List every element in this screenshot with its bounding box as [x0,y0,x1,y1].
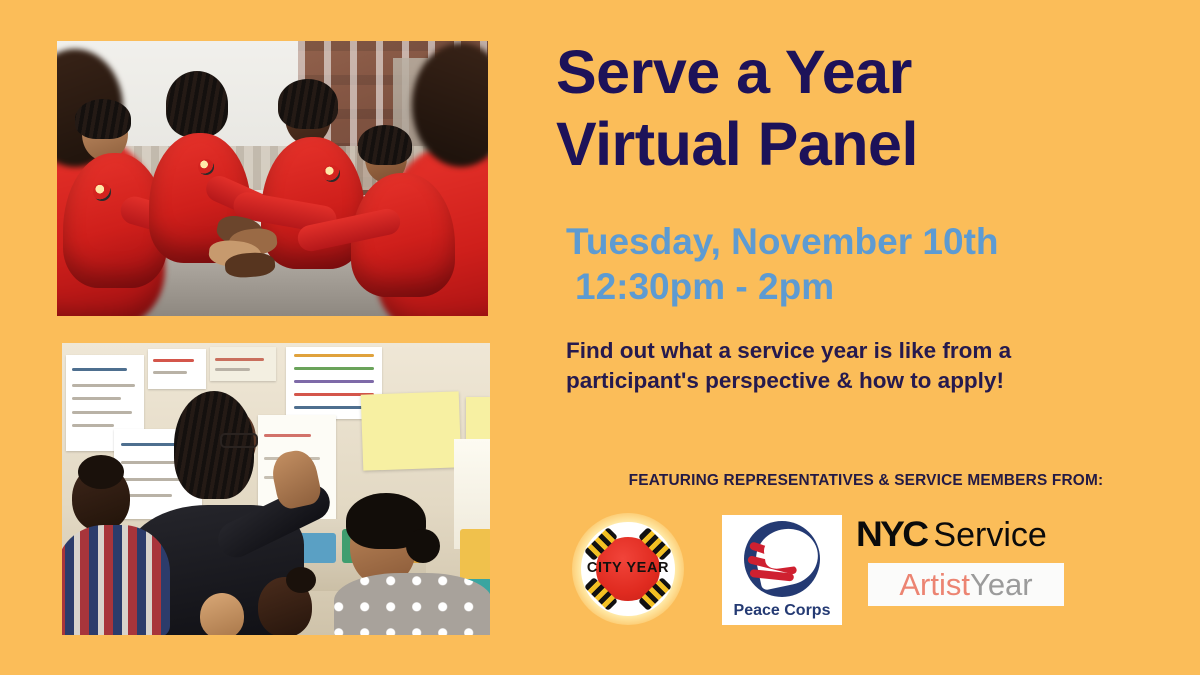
featuring-label: FEATURING REPRESENTATIVES & SERVICE MEMB… [566,472,1166,490]
title-line-1: Serve a Year [556,36,1176,108]
photo-person-2-locs [166,71,228,137]
peace-corps-logo: Peace Corps [722,515,842,625]
event-time: 12:30pm - 2pm [566,264,1186,309]
photo-person-3-hair [278,79,338,129]
photo-person-4-hair [358,125,412,165]
artistyear-logo: Artist Year [868,563,1064,606]
wall-poster-yellow-1 [361,391,462,470]
event-datetime: Tuesday, November 10th 12:30pm - 2pm [566,219,1186,309]
partner-logos: CITY YEAR Peace Corps NYC Service Artist… [560,505,1180,645]
city-year-logo: CITY YEAR [572,513,684,625]
event-date: Tuesday, November 10th [566,221,999,262]
photo-city-year-corps-members-hands-in [57,41,488,316]
city-year-wordmark: CITY YEAR [572,560,684,576]
artistyear-artist-text: Artist [899,567,970,603]
peace-corps-wordmark: Peace Corps [722,602,842,620]
artistyear-year-text: Year [970,567,1033,603]
nyc-service-logo: NYC Service [856,513,1076,557]
wall-chart-2 [148,349,206,389]
photo-classroom-high-five [62,343,490,635]
flyer-canvas: Serve a Year Virtual Panel Tuesday, Nove… [0,0,1200,675]
photo-person-1-hair [75,99,131,139]
title-line-2: Virtual Panel [556,108,1176,180]
nyc-service-nyc-text: NYC [856,515,926,555]
photo-person-3-patch [323,165,340,182]
nyc-service-service-text: Service [933,516,1046,555]
event-description: Find out what a service year is like fro… [566,336,1106,396]
page-title: Serve a Year Virtual Panel [556,36,1176,180]
wall-chart-3 [210,347,276,381]
photo-person-2-patch [198,159,214,175]
photo-person-1-patch [93,183,111,201]
service-member-glasses [220,433,258,448]
